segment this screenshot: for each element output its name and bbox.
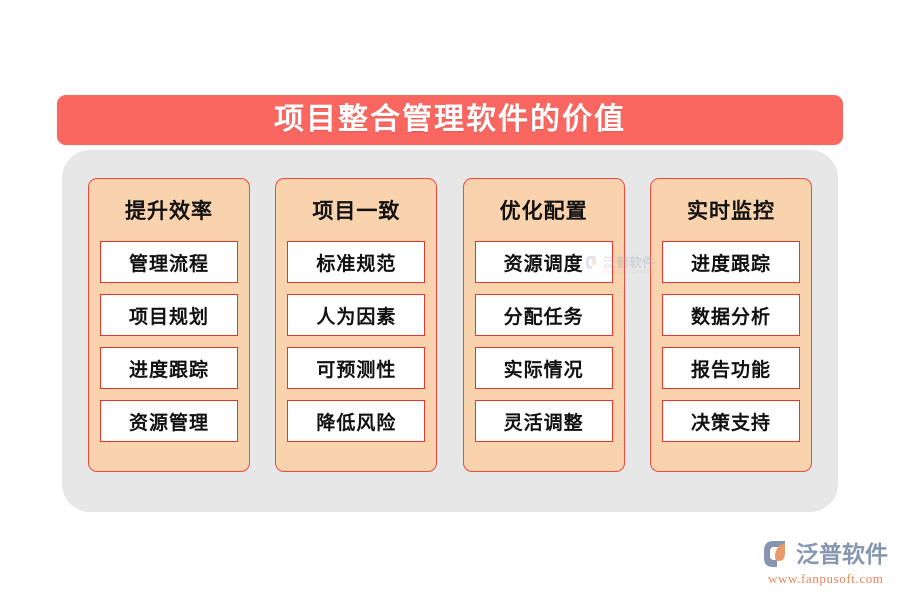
list-item: 灵活调整	[475, 400, 613, 442]
list-item: 人为因素	[287, 294, 425, 336]
brand-logo: 泛普软件 www.fanpusoft.com	[762, 538, 894, 588]
brand-url: www.fanpusoft.com	[768, 571, 894, 587]
list-item: 实际情况	[475, 347, 613, 389]
category-items-1: 管理流程 项目规划 进度跟踪 资源管理	[100, 241, 238, 454]
category-items-3: 资源调度 分配任务 实际情况 灵活调整	[475, 241, 613, 454]
list-item: 资源管理	[100, 400, 238, 442]
category-column-4: 实时监控 进度跟踪 数据分析 报告功能 决策支持	[650, 178, 812, 472]
list-item: 项目规划	[100, 294, 238, 336]
list-item: 分配任务	[475, 294, 613, 336]
list-item: 标准规范	[287, 241, 425, 283]
list-item: 数据分析	[662, 294, 800, 336]
category-header-2: 项目一致	[287, 179, 425, 241]
category-header-4: 实时监控	[662, 179, 800, 241]
list-item: 资源调度	[475, 241, 613, 283]
category-items-4: 进度跟踪 数据分析 报告功能 决策支持	[662, 241, 800, 454]
category-header-3: 优化配置	[475, 179, 613, 241]
page-title: 项目整合管理软件的价值	[274, 105, 626, 135]
list-item: 降低风险	[287, 400, 425, 442]
list-item: 进度跟踪	[100, 347, 238, 389]
diagram-title-banner: 项目整合管理软件的价值	[57, 95, 843, 145]
list-item: 决策支持	[662, 400, 800, 442]
category-column-3: 优化配置 资源调度 分配任务 实际情况 灵活调整	[463, 178, 625, 472]
brand-logo-row: 泛普软件	[762, 538, 894, 570]
category-columns: 提升效率 管理流程 项目规划 进度跟踪 资源管理 项目一致 标准规范 人为因素 …	[88, 178, 812, 472]
category-header-1: 提升效率	[100, 179, 238, 241]
list-item: 可预测性	[287, 347, 425, 389]
category-items-2: 标准规范 人为因素 可预测性 降低风险	[287, 241, 425, 454]
list-item: 报告功能	[662, 347, 800, 389]
category-column-1: 提升效率 管理流程 项目规划 进度跟踪 资源管理	[88, 178, 250, 472]
brand-name: 泛普软件	[796, 543, 888, 566]
list-item: 管理流程	[100, 241, 238, 283]
fanpu-logo-icon	[762, 539, 792, 569]
list-item: 进度跟踪	[662, 241, 800, 283]
category-column-2: 项目一致 标准规范 人为因素 可预测性 降低风险	[275, 178, 437, 472]
diagram-canvas: 项目整合管理软件的价值 提升效率 管理流程 项目规划 进度跟踪 资源管理 项目一…	[0, 0, 900, 600]
